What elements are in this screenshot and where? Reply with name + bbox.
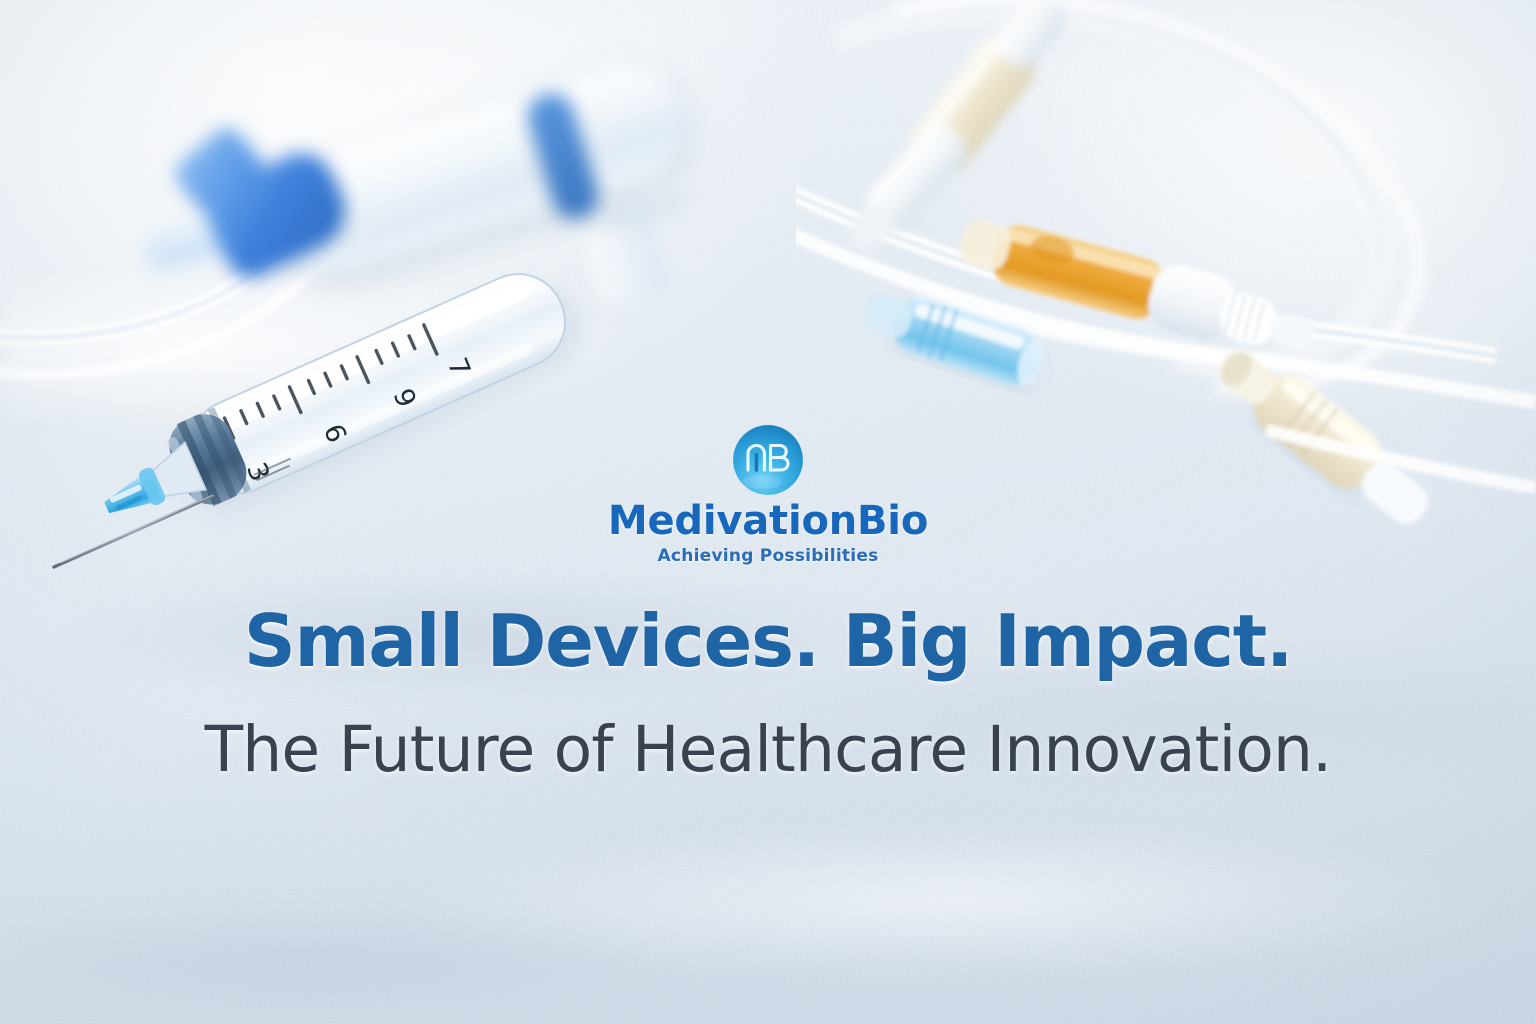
mb-monogram-circle-icon [732,424,804,496]
brand-tagline: Achieving Possibilities [658,546,879,566]
brand-lockup: MedivationBio Achieving Possibilities [0,424,1536,566]
brand-wordmark: MedivationBio [608,500,928,542]
hero-headline: Small Devices. Big Impact. [0,605,1536,677]
hero-subheadline: The Future of Healthcare Innovation. [0,718,1536,781]
hero-banner: 3 6 9 7 [0,0,1536,1024]
